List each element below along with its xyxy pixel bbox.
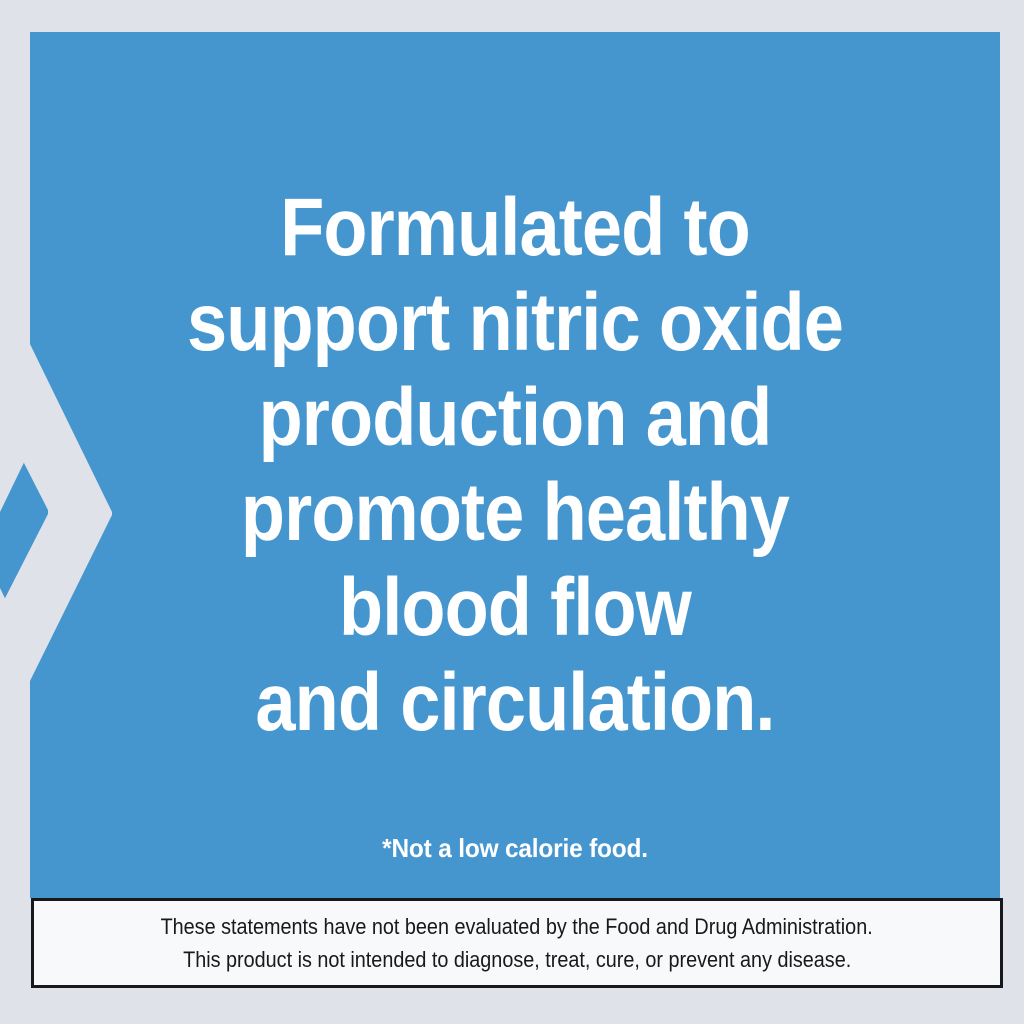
fda-disclaimer-box: These statements have not been evaluated…	[31, 898, 1003, 988]
fda-disclaimer-line-1: These statements have not been evaluated…	[161, 910, 873, 943]
fda-disclaimer-line-2: This product is not intended to diagnose…	[183, 943, 851, 976]
calorie-disclaimer-note: *Not a low calorie food.	[59, 833, 971, 863]
promo-card: Formulated to support nitric oxide produ…	[0, 0, 1024, 1024]
page-title: Formulated to support nitric oxide produ…	[88, 180, 942, 750]
